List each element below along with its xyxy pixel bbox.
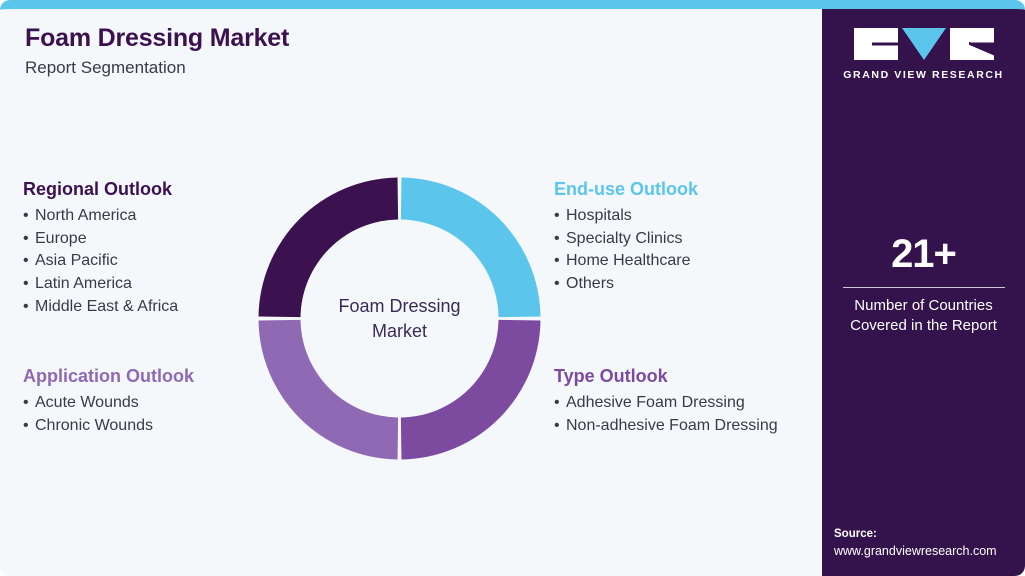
regional-outlook-block: Regional Outlook North America Europe As… bbox=[23, 179, 178, 319]
list-item: Middle East & Africa bbox=[23, 296, 178, 319]
donut-svg: End-use OutlookType OutlookApplication O… bbox=[257, 176, 542, 461]
type-outlook-heading: Type Outlook bbox=[554, 366, 778, 387]
donut-segment[interactable]: Application Outlook bbox=[259, 320, 399, 460]
list-item: Others bbox=[554, 273, 698, 296]
grand-view-research-logo: GRAND VIEW RESEARCH bbox=[822, 28, 1025, 81]
logo-v-icon bbox=[902, 28, 946, 60]
list-item: Adhesive Foam Dressing bbox=[554, 392, 778, 415]
source-url[interactable]: www.grandviewresearch.com bbox=[834, 543, 1017, 560]
list-item: Acute Wounds bbox=[23, 392, 194, 415]
type-outlook-list: Adhesive Foam Dressing Non-adhesive Foam… bbox=[554, 392, 778, 438]
stat-label-line1: Number of Countries bbox=[822, 296, 1025, 316]
list-item: Specialty Clinics bbox=[554, 228, 698, 251]
list-item: Non-adhesive Foam Dressing bbox=[554, 415, 778, 438]
application-outlook-heading: Application Outlook bbox=[23, 366, 194, 387]
list-item: Asia Pacific bbox=[23, 250, 178, 273]
regional-outlook-heading: Regional Outlook bbox=[23, 179, 178, 200]
regional-outlook-list: North America Europe Asia Pacific Latin … bbox=[23, 205, 178, 319]
application-outlook-block: Application Outlook Acute Wounds Chronic… bbox=[23, 366, 194, 437]
side-panel: GRAND VIEW RESEARCH 21+ Number of Countr… bbox=[822, 0, 1025, 576]
list-item: Home Healthcare bbox=[554, 250, 698, 273]
countries-stat: 21+ Number of Countries Covered in the R… bbox=[822, 234, 1025, 336]
infographic-canvas: Foam Dressing Market Report Segmentation… bbox=[0, 0, 1025, 576]
stat-divider bbox=[843, 287, 1005, 288]
page-subtitle: Report Segmentation bbox=[25, 59, 785, 78]
logo-marks bbox=[854, 28, 994, 60]
list-item: Europe bbox=[23, 228, 178, 251]
stat-label-line2: Covered in the Report bbox=[822, 316, 1025, 336]
list-item: Hospitals bbox=[554, 205, 698, 228]
list-item: Latin America bbox=[23, 273, 178, 296]
logo-wordmark: GRAND VIEW RESEARCH bbox=[843, 69, 1004, 81]
enduse-outlook-heading: End-use Outlook bbox=[554, 179, 698, 200]
enduse-outlook-list: Hospitals Specialty Clinics Home Healthc… bbox=[554, 205, 698, 297]
segmentation-donut-chart: End-use OutlookType OutlookApplication O… bbox=[257, 176, 542, 461]
type-outlook-block: Type Outlook Adhesive Foam Dressing Non-… bbox=[554, 366, 778, 437]
list-item: North America bbox=[23, 205, 178, 228]
header: Foam Dressing Market Report Segmentation bbox=[25, 25, 785, 77]
stat-value: 21+ bbox=[822, 234, 1025, 274]
donut-segment[interactable]: Type Outlook bbox=[401, 320, 541, 460]
source-block: Source: www.grandviewresearch.com bbox=[834, 526, 1017, 560]
donut-segment[interactable]: Regional Outlook bbox=[259, 178, 399, 318]
logo-r-icon bbox=[950, 28, 994, 60]
application-outlook-list: Acute Wounds Chronic Wounds bbox=[23, 392, 194, 438]
enduse-outlook-block: End-use Outlook Hospitals Specialty Clin… bbox=[554, 179, 698, 296]
page-title: Foam Dressing Market bbox=[25, 25, 785, 53]
logo-g-icon bbox=[854, 28, 898, 60]
list-item: Chronic Wounds bbox=[23, 415, 194, 438]
donut-segment[interactable]: End-use Outlook bbox=[401, 178, 541, 318]
source-title: Source: bbox=[834, 526, 1017, 543]
